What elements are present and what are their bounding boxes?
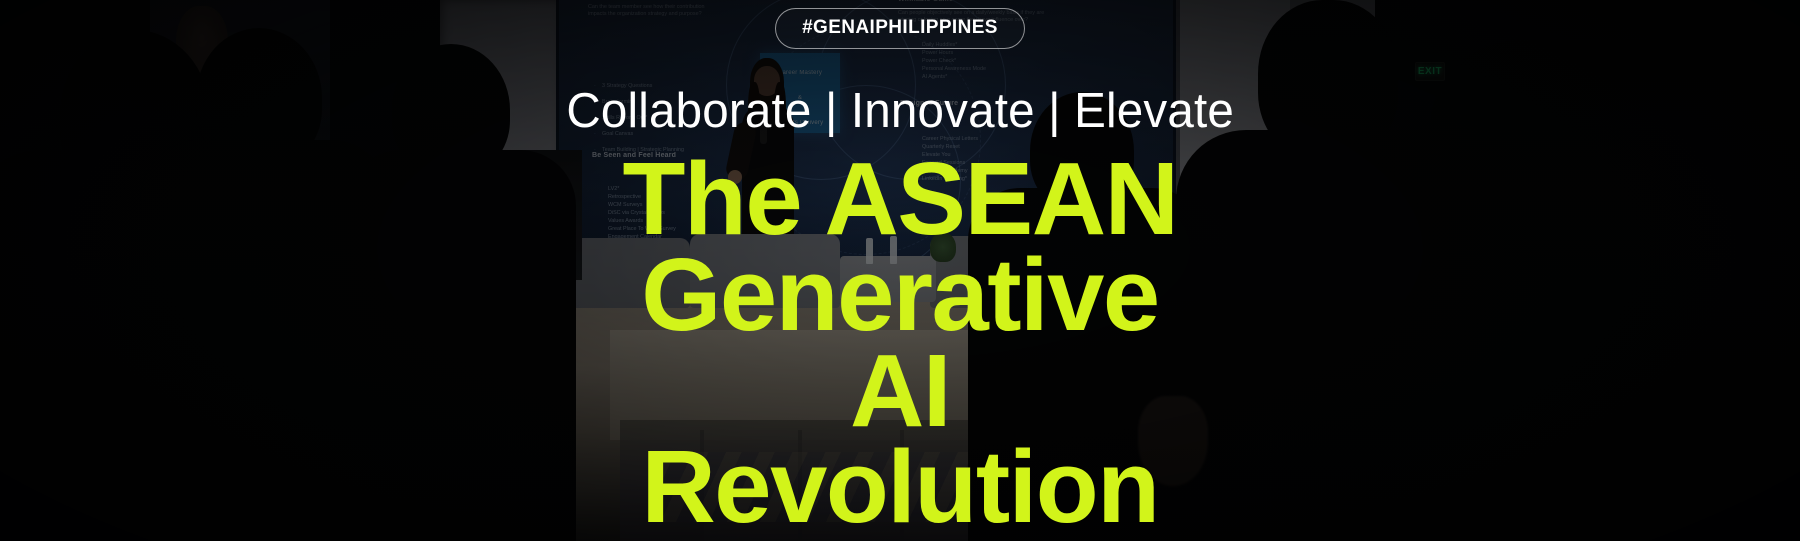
hashtag-pill[interactable]: #GENAIPHILIPPINES (775, 8, 1025, 49)
hero-tagline: Collaborate | Innovate | Elevate (566, 83, 1234, 139)
hero-banner: Can the team member see how their contri… (0, 0, 1800, 541)
hero-headline: The ASEAN Generative AI Revolution (580, 151, 1220, 535)
hero-content: #GENAIPHILIPPINES Collaborate | Innovate… (0, 0, 1800, 541)
